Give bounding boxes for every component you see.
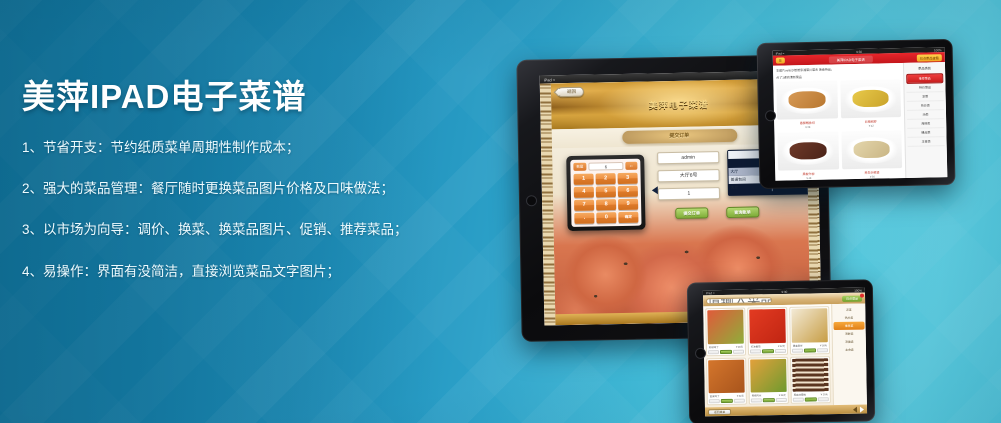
- key-8[interactable]: 8: [596, 199, 616, 210]
- dish-card[interactable]: 香酥鳕鱼排 ￥38: [776, 80, 837, 129]
- feature-item-2: 2、强大的菜品管理：餐厅随时更换菜品图片价格及口味做法；: [22, 181, 452, 197]
- add-button[interactable]: [804, 348, 815, 352]
- dish-card[interactable]: 青椒肉丝 ￥26元: [748, 356, 789, 404]
- key-0[interactable]: 0: [596, 212, 616, 223]
- food-shape: [789, 91, 826, 109]
- next-arrow-icon[interactable]: [860, 406, 864, 412]
- plus-button[interactable]: [817, 397, 828, 401]
- submit-order-button[interactable]: 提交订单: [675, 207, 708, 219]
- menu-icon[interactable]: ☰: [776, 57, 785, 63]
- dish-photo: [841, 130, 902, 169]
- feature-item-4: 4、易操作：界面有没简洁，直接浏览菜品文字图片；: [22, 264, 452, 280]
- dish-meta: 彩椒鸡丁 ￥28元: [708, 343, 744, 349]
- tablet-dish-catalog-screen[interactable]: iPad ≈ 9:30 100% ☰ 美萍IPAD电子菜谱 已点菜品查看 本图片…: [756, 39, 955, 189]
- plus-button[interactable]: [817, 348, 828, 352]
- view-ordered-button[interactable]: 已点菜品查看: [917, 54, 942, 62]
- food-shape: [852, 90, 889, 108]
- promo-banner: 美萍IPAD电子菜谱 1、节省开支：节约纸质菜单周期性制作成本； 2、强大的菜品…: [0, 0, 1001, 423]
- dish-card[interactable]: 黄金酥饼 ￥18元: [789, 306, 830, 354]
- dish-price: ￥28元: [735, 344, 743, 348]
- dish-meta: 红油番茄 ￥22元: [750, 342, 786, 348]
- dish-name: 青椒肉丝: [752, 393, 762, 397]
- catalog-title: 美萍IPAD电子菜谱: [829, 55, 873, 63]
- key-2[interactable]: 2: [596, 173, 616, 184]
- dish-name: 黑森林蛋糕: [794, 393, 806, 397]
- subtitle-text: 提交订单: [622, 129, 737, 144]
- dish-name: 黄金酥饼: [793, 343, 803, 347]
- status-carrier: iPad ≈: [544, 77, 555, 82]
- plus-button[interactable]: [775, 348, 786, 352]
- query-bill-button[interactable]: 查询账单: [726, 206, 759, 218]
- cart-badge: [860, 293, 864, 297]
- dish-photo: [749, 309, 786, 343]
- dish-photo: [777, 131, 838, 170]
- dish-ops: [792, 348, 828, 353]
- dish-card[interactable]: 黑森林蛋糕 ￥20元: [790, 356, 831, 404]
- dish-price: ￥38: [777, 124, 838, 129]
- minus-button[interactable]: [792, 348, 803, 352]
- dish-cells: 香酥鳕鱼排 ￥38 彩椒鲜虾 ￥42: [776, 79, 902, 181]
- category-item[interactable]: 主食类: [834, 346, 865, 355]
- pointer-arrow-icon: [652, 186, 658, 194]
- key-5[interactable]: 5: [596, 186, 616, 197]
- tablet-bezel: iPad ≈ 9:30 100% ☰ 美萍IPAD电子菜谱 已点菜品查看 本图片…: [756, 39, 955, 189]
- numeric-keypad[interactable]: 数量 6 1 2 3 4 5: [566, 155, 645, 231]
- keypad-grid: 1 2 3 4 5 6 7 8 9 .: [574, 173, 639, 224]
- dish-ops: [708, 349, 744, 354]
- dish-meta: 宫保鸡丁 ￥32元: [709, 393, 745, 399]
- dish-meta: 青椒肉丝 ￥26元: [751, 392, 787, 398]
- minus-button[interactable]: [708, 350, 719, 354]
- dish-photo: [750, 358, 787, 392]
- dish-meta: 黑森林蛋糕 ￥20元: [793, 391, 829, 397]
- status-battery: 100%: [934, 48, 942, 52]
- dish-photo: [708, 359, 745, 393]
- catalog-body: 本图片vs长沙智管家湘菜川菜系 美食特品。 点了1桌的清新菜品 香酥鳕鱼排 ￥3…: [773, 62, 947, 181]
- dish-photo: [707, 310, 744, 344]
- subtitle-pill: 提交订单: [622, 129, 737, 144]
- add-button[interactable]: [720, 349, 731, 353]
- category-sidebar: 菜品类别 推荐菜品 特价菜品 凉菜 热炒类 汤类 海鲜类 精品菜 主食类: [903, 62, 947, 178]
- keypad-display[interactable]: 6: [588, 162, 623, 171]
- back-to-menu-button[interactable]: 返回菜单: [708, 408, 731, 414]
- dish-price: ￥22元: [777, 343, 785, 347]
- key-7[interactable]: 7: [574, 200, 594, 211]
- dish-photo: [792, 358, 829, 392]
- key-4[interactable]: 4: [574, 187, 594, 198]
- plus-button[interactable]: [733, 349, 744, 353]
- add-button[interactable]: [721, 399, 732, 403]
- dish-name: 宫保鸡丁: [710, 394, 720, 398]
- order-form-fields: admin 大厅6号 1: [657, 151, 720, 206]
- dish-photo: [776, 80, 837, 119]
- minus-button[interactable]: [793, 398, 804, 402]
- status-carrier: iPad ≈: [706, 291, 715, 295]
- order-action-buttons: 提交订单 查询账单: [675, 206, 759, 219]
- operator-field[interactable]: admin: [657, 151, 719, 164]
- prev-arrow-icon[interactable]: [853, 406, 857, 412]
- dish-card[interactable]: 红油番茄 ￥22元: [747, 307, 788, 355]
- dish-photo: [791, 308, 828, 342]
- dish-ops: [793, 397, 829, 402]
- dish-price: ￥48: [778, 175, 839, 180]
- dish-name: 红油番茄: [751, 344, 761, 348]
- key-1[interactable]: 1: [574, 174, 594, 185]
- tablet-screen[interactable]: iPad ≈ 9:30 100% ☰ 美萍IPAD电子菜谱 已点菜品查看 本图片…: [773, 47, 948, 181]
- dish-grid: 本图片vs长沙智管家湘菜川菜系 美食特品。 点了1桌的清新菜品 香酥鳕鱼排 ￥3…: [773, 63, 905, 181]
- tablet-bezel: iPad ≈ 9:30 100% 已点菜品: [687, 279, 875, 423]
- key-confirm[interactable]: 确定: [618, 212, 638, 223]
- add-button[interactable]: [805, 397, 816, 401]
- dish-price: ￥42: [841, 123, 902, 128]
- dish-price: ￥20元: [820, 392, 828, 396]
- dish-card[interactable]: 养生杂粮煲 ￥36: [841, 130, 902, 179]
- feature-item-3: 3、以市场为向导：调价、换菜、换菜品图片、促销、推荐菜品；: [22, 222, 452, 238]
- status-carrier: iPad ≈: [776, 51, 785, 55]
- cart-label: 已点菜品: [846, 296, 858, 300]
- food-shape: [853, 141, 890, 159]
- guests-field[interactable]: 1: [658, 187, 720, 200]
- feature-list: 1、节省开支：节约纸质菜单周期性制作成本； 2、强大的菜品管理：餐厅随时更换菜品…: [22, 140, 452, 280]
- dish-card[interactable]: 黑椒牛柳 ￥48: [777, 131, 838, 180]
- dish-grid: 彩椒鸡丁 ￥28元 红油番茄: [703, 304, 833, 407]
- dish-ops: [750, 348, 786, 353]
- dish-card[interactable]: 宫保鸡丁 ￥32元: [706, 357, 747, 405]
- banner-copy: 美萍IPAD电子菜谱 1、节省开支：节约纸质菜单周期性制作成本； 2、强大的菜品…: [22, 70, 452, 305]
- backspace-icon[interactable]: [625, 162, 637, 170]
- dish-card[interactable]: 彩椒鸡丁 ￥28元: [705, 308, 746, 356]
- back-button[interactable]: 返回: [557, 87, 584, 98]
- search-input[interactable]: [706, 297, 772, 304]
- tablet-dish-browse-screen[interactable]: iPad ≈ 9:30 100% 已点菜品: [687, 279, 875, 423]
- category-item[interactable]: 主食类: [908, 137, 945, 147]
- dish-ops: [709, 399, 745, 404]
- category-sidebar-title: 菜品类别: [906, 65, 943, 71]
- page-title: 美萍IPAD电子菜谱: [22, 70, 452, 118]
- dish-meta: 黄金酥饼 ￥18元: [792, 342, 828, 348]
- key-dot[interactable]: .: [574, 213, 594, 224]
- status-battery: 100%: [854, 288, 862, 292]
- dish-name: 彩椒鸡丁: [709, 345, 719, 349]
- dish-ops: [751, 398, 787, 403]
- keypad-display-row: 数量 6: [573, 162, 637, 171]
- browse-body: 彩椒鸡丁 ￥28元 红油番茄: [703, 304, 867, 408]
- add-button[interactable]: [763, 398, 774, 402]
- table-field[interactable]: 大厅6号: [657, 169, 719, 182]
- status-time: 9:30: [781, 289, 787, 293]
- key-3[interactable]: 3: [618, 173, 638, 184]
- minus-button[interactable]: [750, 349, 761, 353]
- dish-price: ￥26元: [778, 393, 786, 397]
- category-sidebar: 凉菜 热炒类 推荐菜 海鲜类 汤羹类 主食类: [831, 304, 867, 406]
- dish-card[interactable]: 彩椒鲜虾 ￥42: [840, 79, 901, 128]
- browse-footer: 返回菜单: [705, 405, 867, 417]
- dish-price: ￥18元: [819, 343, 827, 347]
- key-9[interactable]: 9: [618, 199, 638, 210]
- pagination-nav: [853, 406, 864, 412]
- plus-button[interactable]: [775, 398, 786, 402]
- key-6[interactable]: 6: [618, 186, 638, 197]
- cart-button[interactable]: 已点菜品: [842, 295, 862, 301]
- keypad-label: 数量: [573, 163, 586, 171]
- minus-button[interactable]: [709, 399, 720, 403]
- dish-photo: [840, 79, 901, 118]
- dish-price: ￥32元: [736, 394, 744, 398]
- add-button[interactable]: [762, 349, 773, 353]
- status-time: 9:30: [856, 49, 862, 53]
- feature-item-1: 1、节省开支：节约纸质菜单周期性制作成本；: [22, 140, 452, 156]
- plus-button[interactable]: [733, 399, 744, 403]
- tablet-screen[interactable]: iPad ≈ 9:30 100% 已点菜品: [703, 288, 867, 417]
- minus-button[interactable]: [751, 398, 762, 402]
- dish-price: ￥36: [842, 174, 903, 179]
- keypad-inner: 数量 6 1 2 3 4 5: [570, 159, 641, 227]
